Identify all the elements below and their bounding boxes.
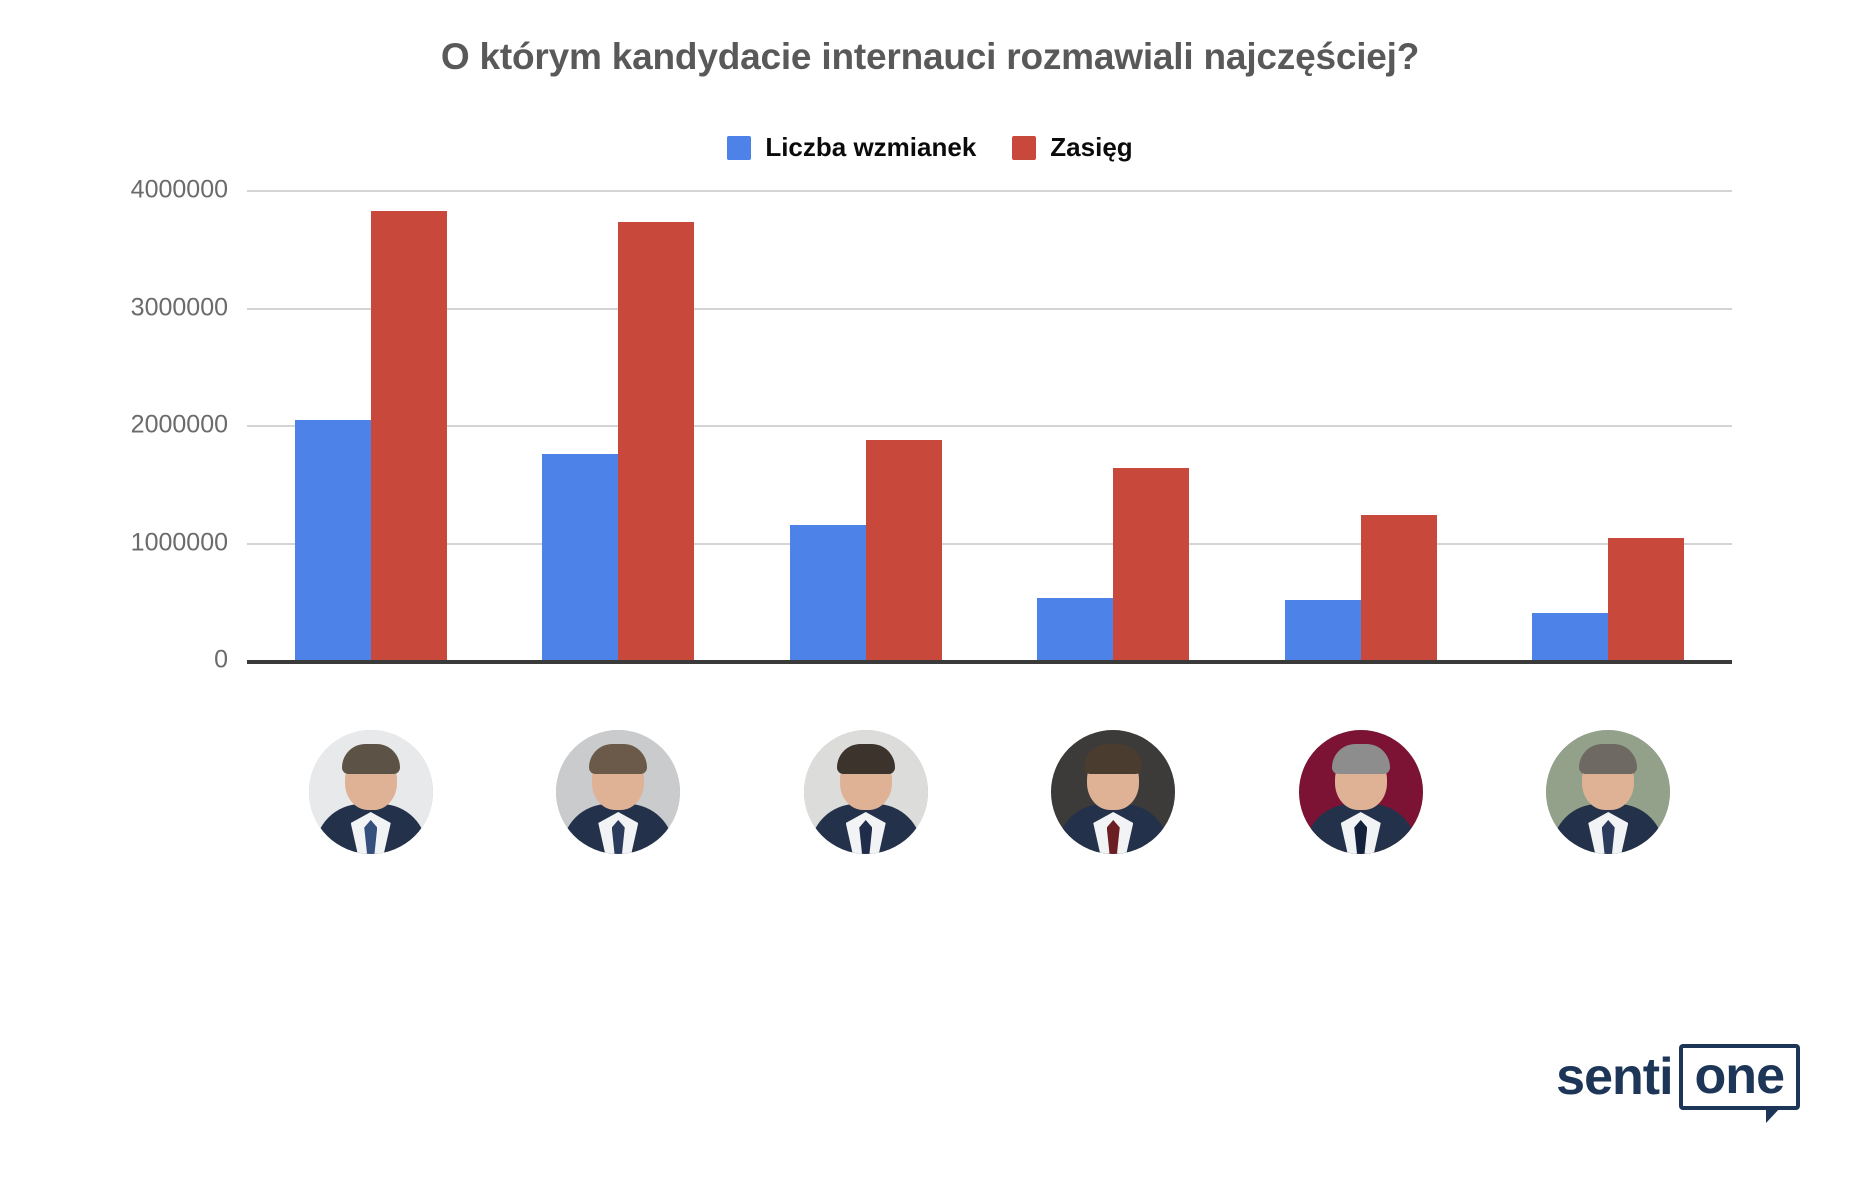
bar-reach[interactable] xyxy=(1113,468,1189,660)
bar-reach[interactable] xyxy=(866,440,942,660)
bar-mentions[interactable] xyxy=(1285,600,1361,660)
avatar-hair xyxy=(1084,744,1142,774)
avatar xyxy=(556,730,680,854)
avatar-slot xyxy=(1281,730,1441,854)
bars-layer xyxy=(247,190,1732,660)
legend-item-reach[interactable]: Zasięg xyxy=(1012,132,1132,163)
avatar-slot xyxy=(1528,730,1688,854)
avatar-hair xyxy=(1579,744,1637,774)
avatar-hair xyxy=(837,744,895,774)
avatar xyxy=(1299,730,1423,854)
candidate-avatars xyxy=(247,730,1732,890)
bar-group xyxy=(495,190,743,660)
bar-mentions[interactable] xyxy=(1532,613,1608,660)
legend-swatch-mentions xyxy=(727,136,751,160)
avatar-slot xyxy=(538,730,698,854)
bar-mentions[interactable] xyxy=(790,525,866,660)
avatar xyxy=(309,730,433,854)
avatar-hair xyxy=(589,744,647,774)
page-title: O którym kandydacie internauci rozmawial… xyxy=(0,36,1860,78)
bar-reach[interactable] xyxy=(618,222,694,660)
y-axis-tick-label: 1000000 xyxy=(0,528,228,557)
avatar-hair xyxy=(342,744,400,774)
bar-group xyxy=(742,190,990,660)
bar-group xyxy=(990,190,1238,660)
sentione-logo: senti one xyxy=(1556,1044,1800,1110)
avatar xyxy=(1546,730,1670,854)
bar-reach[interactable] xyxy=(1361,515,1437,660)
axis-baseline xyxy=(247,660,1732,664)
y-axis-tick-label: 0 xyxy=(0,646,228,675)
bar-mentions[interactable] xyxy=(295,420,371,660)
avatar-slot xyxy=(291,730,451,854)
avatar xyxy=(1051,730,1175,854)
chart-page: O którym kandydacie internauci rozmawial… xyxy=(0,0,1860,1182)
legend-label-reach: Zasięg xyxy=(1050,132,1132,163)
y-axis-tick-label: 4000000 xyxy=(0,176,228,205)
legend-item-mentions[interactable]: Liczba wzmianek xyxy=(727,132,976,163)
avatar xyxy=(804,730,928,854)
bar-group xyxy=(1485,190,1733,660)
avatar-slot xyxy=(1033,730,1193,854)
legend-label-mentions: Liczba wzmianek xyxy=(765,132,976,163)
bar-mentions[interactable] xyxy=(1037,598,1113,660)
bar-mentions[interactable] xyxy=(542,454,618,660)
bar-group xyxy=(247,190,495,660)
avatar-hair xyxy=(1332,744,1390,774)
chart-legend: Liczba wzmianek Zasięg xyxy=(0,132,1860,163)
legend-swatch-reach xyxy=(1012,136,1036,160)
y-axis-tick-label: 3000000 xyxy=(0,293,228,322)
logo-text-senti: senti xyxy=(1556,1047,1672,1107)
bar-reach[interactable] xyxy=(1608,538,1684,660)
bar-group xyxy=(1237,190,1485,660)
plot-area: 40000003000000200000010000000 xyxy=(0,190,1860,710)
avatar-slot xyxy=(786,730,946,854)
logo-text-one: one xyxy=(1679,1044,1800,1110)
bar-reach[interactable] xyxy=(371,211,447,660)
y-axis-tick-label: 2000000 xyxy=(0,411,228,440)
